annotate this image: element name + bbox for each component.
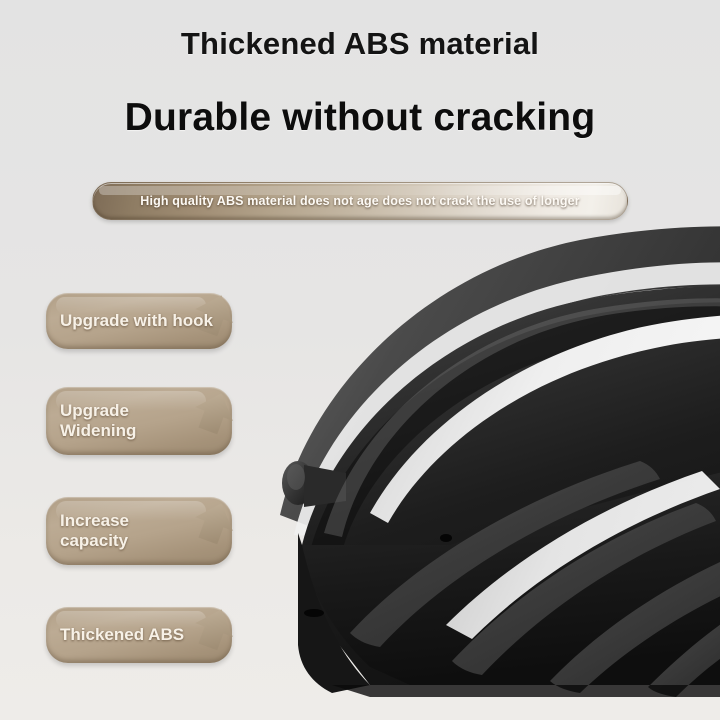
drainage-slot-5 xyxy=(648,611,720,697)
shelf-inner-shadow xyxy=(310,302,720,559)
shelf-top-slot xyxy=(370,314,720,523)
product-marketing-banner: Thickened ABS material Durable without c… xyxy=(0,0,720,720)
feature-tag-label: Thickened ABS xyxy=(60,625,184,645)
shelf-back-rim xyxy=(280,226,720,535)
feature-tag-upgrade-with-hook[interactable]: Upgrade with hook xyxy=(46,292,248,350)
drainage-slot-3 xyxy=(452,503,716,675)
shelf-hook xyxy=(282,461,346,507)
feature-tag-label: Upgrade with hook xyxy=(60,311,213,331)
feature-tag-label: Upgrade Widening xyxy=(60,401,136,441)
feature-tag-upgrade-widening[interactable]: Upgrade Widening xyxy=(46,386,248,456)
drainage-slots xyxy=(304,461,720,697)
shelf-gloss xyxy=(324,298,720,537)
arrow-up-right-icon xyxy=(192,388,250,446)
drainage-slot-1 xyxy=(446,471,720,639)
drainage-slot-2 xyxy=(350,461,660,647)
black-corner-shelf-illustration xyxy=(250,215,720,720)
shelf-rim-slot xyxy=(294,262,720,537)
shelf-shell xyxy=(302,286,720,685)
arrow-up-right-icon xyxy=(192,498,250,556)
feature-banner: High quality ABS material does not age d… xyxy=(92,182,628,220)
shelf-bottom-edge xyxy=(332,685,720,697)
product-image xyxy=(250,215,720,720)
headline-primary: Thickened ABS material xyxy=(0,26,720,62)
arrow-up-right-icon xyxy=(192,604,250,662)
headline-secondary: Durable without cracking xyxy=(0,96,720,140)
feature-tag-increase-capacity[interactable]: Increase capacity xyxy=(46,496,248,566)
drain-hole-2 xyxy=(304,609,324,617)
shelf-base-plate xyxy=(298,465,720,685)
feature-tag-label: Increase capacity xyxy=(60,511,129,551)
feature-tag-thickened-abs[interactable]: Thickened ABS xyxy=(46,606,248,664)
feature-banner-text: High quality ABS material does not age d… xyxy=(140,194,579,208)
drain-hole-1 xyxy=(440,534,452,542)
drainage-slot-4 xyxy=(550,553,720,693)
shelf-left-wall xyxy=(298,533,370,693)
